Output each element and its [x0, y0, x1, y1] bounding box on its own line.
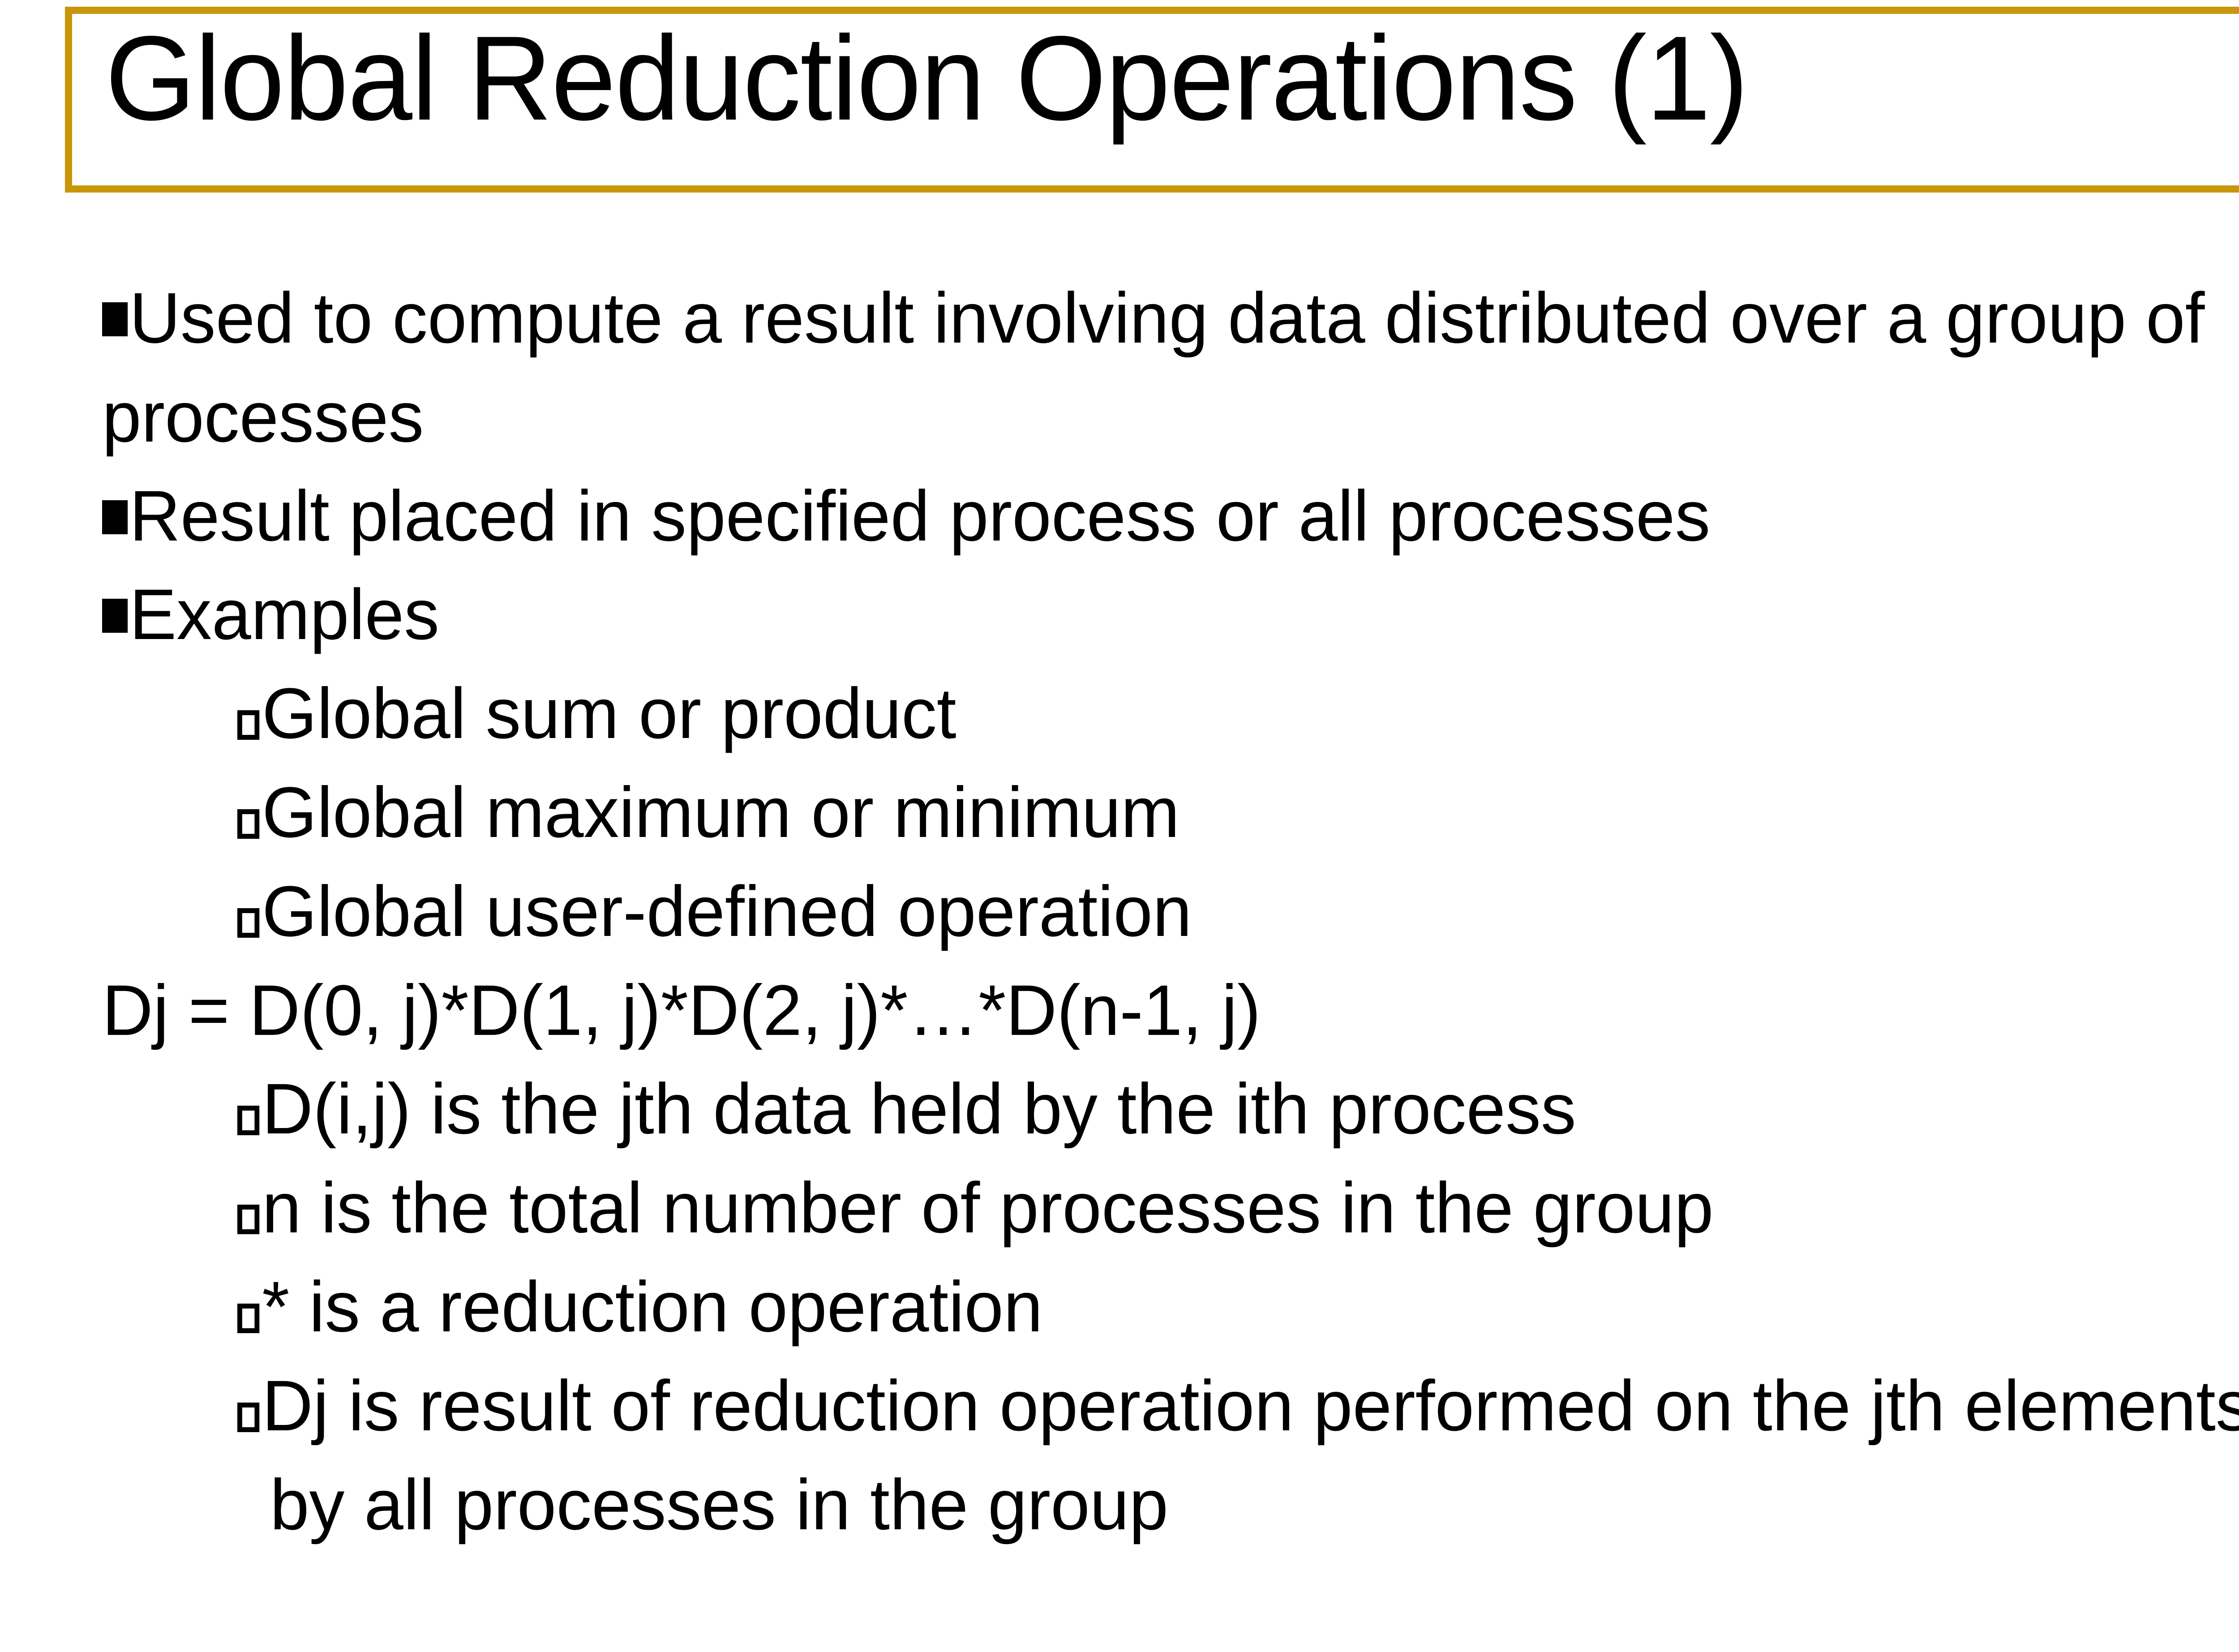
list-item-label: Global sum or product	[262, 673, 956, 753]
list-item-label: Global user-defined operation	[262, 871, 1192, 951]
list-item: * is a reduction operation	[237, 1257, 2239, 1356]
formula-line: Dj = D(0, j)*D(1, j)*D(2, j)*…*D(n-1, j)	[102, 961, 2239, 1060]
hollow-square-bullet-icon	[237, 809, 259, 839]
list-item: Global sum or product	[237, 664, 2239, 763]
filled-square-bullet-icon	[102, 302, 128, 336]
list-item: Dj is result of reduction operation perf…	[237, 1356, 2239, 1554]
list-item-label: Result placed in specified process or al…	[129, 476, 1710, 556]
slide-body: Used to compute a result involving data …	[0, 269, 2239, 1554]
list-item: Used to compute a result involving data …	[102, 269, 2239, 467]
list-item-label: Used to compute a result involving data …	[102, 278, 2205, 457]
list-item: n is the total number of processes in th…	[237, 1159, 2239, 1257]
hollow-square-bullet-icon	[237, 710, 259, 740]
hollow-square-bullet-icon	[237, 1304, 259, 1333]
filled-square-bullet-icon	[102, 500, 128, 534]
hollow-square-bullet-icon	[237, 1106, 259, 1135]
list-item-label: * is a reduction operation	[262, 1266, 1042, 1347]
list-item: Examples	[102, 565, 2239, 664]
list-item-label: D(i,j) is the jth data held by the ith p…	[262, 1068, 1576, 1149]
hollow-square-bullet-icon	[237, 1403, 259, 1432]
list-item: Global maximum or minimum	[237, 763, 2239, 862]
list-item-label: Dj is result of reduction operation perf…	[262, 1365, 2239, 1545]
list-item-label: n is the total number of processes in th…	[262, 1167, 1713, 1248]
list-item-label: Examples	[129, 574, 439, 654]
list-item: Result placed in specified process or al…	[102, 467, 2239, 566]
filled-square-bullet-icon	[102, 599, 128, 633]
list-item-label: Global maximum or minimum	[262, 772, 1180, 852]
formula-text: Dj = D(0, j)*D(1, j)*D(2, j)*…*D(n-1, j)	[102, 970, 1261, 1050]
hollow-square-bullet-icon	[237, 908, 259, 938]
list-item: Global user-defined operation	[237, 862, 2239, 961]
page-title: Global Reduction Operations (1)	[105, 18, 2239, 138]
list-item: D(i,j) is the jth data held by the ith p…	[237, 1060, 2239, 1159]
hollow-square-bullet-icon	[237, 1205, 259, 1234]
